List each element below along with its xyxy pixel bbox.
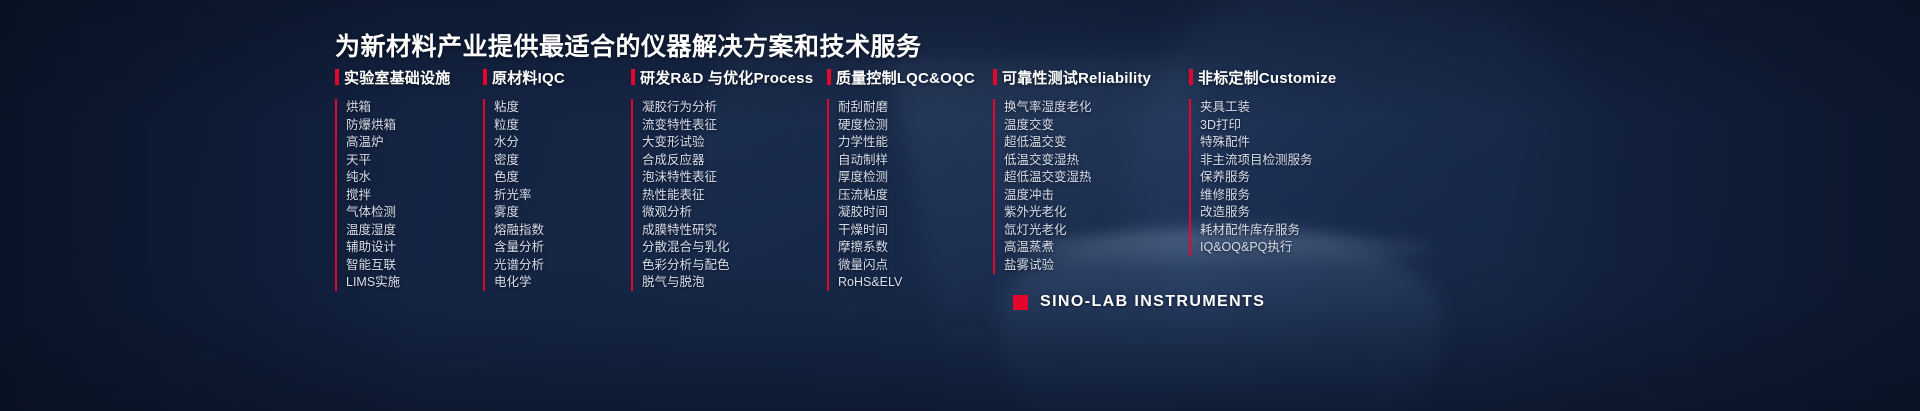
- category-item-list: 粘度 粒度 水分 密度 色度 折光率 雾度 熔融指数 含量分析 光谱分析 电化学: [483, 99, 631, 291]
- accent-bar-icon: [827, 69, 831, 85]
- list-item[interactable]: 密度: [494, 152, 631, 169]
- list-item[interactable]: 保养服务: [1200, 169, 1385, 186]
- list-item[interactable]: 微量闪点: [838, 257, 993, 274]
- list-item[interactable]: 粒度: [494, 117, 631, 134]
- category-header-label: 非标定制Customize: [1198, 67, 1336, 88]
- list-item[interactable]: 耐刮耐磨: [838, 99, 993, 116]
- service-category-columns: 实验室基础设施 烘箱 防爆烘箱 高温炉 天平 纯水 搅拌 气体检测 温度湿度 辅…: [335, 66, 1385, 292]
- brand-name: SINO-LAB INSTRUMENTS: [1040, 293, 1265, 311]
- list-item[interactable]: 微观分析: [642, 204, 827, 221]
- category-header-label: 质量控制LQC&OQC: [836, 67, 975, 88]
- list-item[interactable]: 泡沫特性表征: [642, 169, 827, 186]
- list-item[interactable]: 凝胶行为分析: [642, 99, 827, 116]
- list-item[interactable]: 气体检测: [346, 204, 483, 221]
- page-title: 为新材料产业提供最适合的仪器解决方案和技术服务: [335, 27, 922, 63]
- list-item[interactable]: 摩擦系数: [838, 239, 993, 256]
- category-column-quality-control: 质量控制LQC&OQC 耐刮耐磨 硬度检测 力学性能 自动制样 厚度检测 压流粘…: [827, 66, 993, 292]
- list-item[interactable]: 低温交变湿热: [1004, 152, 1189, 169]
- list-item[interactable]: 温度冲击: [1004, 187, 1189, 204]
- list-item[interactable]: 流变特性表征: [642, 117, 827, 134]
- list-item[interactable]: 凝胶时间: [838, 204, 993, 221]
- category-column-reliability: 可靠性测试Reliability 换气率湿度老化 温度交变 超低温交变 低温交变…: [993, 66, 1189, 292]
- list-item[interactable]: 粘度: [494, 99, 631, 116]
- list-item[interactable]: 3D打印: [1200, 117, 1385, 134]
- category-column-lab-infrastructure: 实验室基础设施 烘箱 防爆烘箱 高温炉 天平 纯水 搅拌 气体检测 温度湿度 辅…: [335, 66, 483, 292]
- list-item[interactable]: 力学性能: [838, 134, 993, 151]
- list-item[interactable]: 超低温交变: [1004, 134, 1189, 151]
- list-item[interactable]: 烘箱: [346, 99, 483, 116]
- list-item[interactable]: 色度: [494, 169, 631, 186]
- list-item[interactable]: 热性能表征: [642, 187, 827, 204]
- category-item-list: 凝胶行为分析 流变特性表征 大变形试验 合成反应器 泡沫特性表征 热性能表征 微…: [631, 99, 827, 291]
- list-item[interactable]: 超低温交变湿热: [1004, 169, 1189, 186]
- accent-bar-icon: [631, 69, 635, 85]
- accent-bar-icon: [1189, 69, 1193, 85]
- list-item[interactable]: 光谱分析: [494, 257, 631, 274]
- accent-bar-icon: [993, 69, 997, 85]
- category-header: 可靠性测试Reliability: [993, 66, 1189, 88]
- list-item[interactable]: 盐雾试验: [1004, 257, 1189, 274]
- list-item[interactable]: 水分: [494, 134, 631, 151]
- category-header: 原材料IQC: [483, 66, 631, 88]
- category-header: 非标定制Customize: [1189, 66, 1385, 88]
- accent-bar-icon: [335, 69, 339, 85]
- list-item[interactable]: 干燥时间: [838, 222, 993, 239]
- category-item-list: 换气率湿度老化 温度交变 超低温交变 低温交变湿热 超低温交变湿热 温度冲击 紫…: [993, 99, 1189, 274]
- list-item[interactable]: 厚度检测: [838, 169, 993, 186]
- category-item-list: 耐刮耐磨 硬度检测 力学性能 自动制样 厚度检测 压流粘度 凝胶时间 干燥时间 …: [827, 99, 993, 291]
- list-item[interactable]: 温度交变: [1004, 117, 1189, 134]
- list-item[interactable]: 非主流项目检测服务: [1200, 152, 1385, 169]
- list-item[interactable]: 防爆烘箱: [346, 117, 483, 134]
- category-item-list: 夹具工装 3D打印 特殊配件 非主流项目检测服务 保养服务 维修服务 改造服务 …: [1189, 99, 1385, 256]
- list-item[interactable]: 天平: [346, 152, 483, 169]
- list-item[interactable]: 氙灯光老化: [1004, 222, 1189, 239]
- list-item[interactable]: 高温蒸煮: [1004, 239, 1189, 256]
- category-column-rnd-process: 研发R&D 与优化Process 凝胶行为分析 流变特性表征 大变形试验 合成反…: [631, 66, 827, 292]
- list-item[interactable]: 合成反应器: [642, 152, 827, 169]
- list-item[interactable]: 硬度检测: [838, 117, 993, 134]
- list-item[interactable]: 色彩分析与配色: [642, 257, 827, 274]
- list-item[interactable]: 改造服务: [1200, 204, 1385, 221]
- list-item[interactable]: 换气率湿度老化: [1004, 99, 1189, 116]
- category-header-label: 研发R&D 与优化Process: [640, 67, 813, 88]
- list-item[interactable]: 脱气与脱泡: [642, 274, 827, 291]
- list-item[interactable]: 含量分析: [494, 239, 631, 256]
- category-header: 实验室基础设施: [335, 66, 483, 88]
- list-item[interactable]: 自动制样: [838, 152, 993, 169]
- list-item[interactable]: 智能互联: [346, 257, 483, 274]
- banner-content: 为新材料产业提供最适合的仪器解决方案和技术服务 实验室基础设施 烘箱 防爆烘箱 …: [0, 0, 1920, 411]
- list-item[interactable]: 分散混合与乳化: [642, 239, 827, 256]
- list-item[interactable]: 成膜特性研究: [642, 222, 827, 239]
- list-item[interactable]: IQ&OQ&PQ执行: [1200, 239, 1385, 256]
- category-header: 研发R&D 与优化Process: [631, 66, 827, 88]
- list-item[interactable]: 维修服务: [1200, 187, 1385, 204]
- square-mark-icon: [1013, 295, 1028, 310]
- list-item[interactable]: 特殊配件: [1200, 134, 1385, 151]
- accent-bar-icon: [483, 69, 487, 85]
- list-item[interactable]: 温度湿度: [346, 222, 483, 239]
- list-item[interactable]: 紫外光老化: [1004, 204, 1189, 221]
- list-item[interactable]: 电化学: [494, 274, 631, 291]
- category-header-label: 实验室基础设施: [344, 67, 450, 88]
- category-item-list: 烘箱 防爆烘箱 高温炉 天平 纯水 搅拌 气体检测 温度湿度 辅助设计 智能互联…: [335, 99, 483, 291]
- list-item[interactable]: 夹具工装: [1200, 99, 1385, 116]
- category-header-label: 可靠性测试Reliability: [1002, 67, 1151, 88]
- category-header-label: 原材料IQC: [492, 67, 565, 88]
- list-item[interactable]: 搅拌: [346, 187, 483, 204]
- list-item[interactable]: 高温炉: [346, 134, 483, 151]
- list-item[interactable]: 压流粘度: [838, 187, 993, 204]
- list-item[interactable]: 耗材配件库存服务: [1200, 222, 1385, 239]
- brand-logo[interactable]: SINO-LAB INSTRUMENTS: [1013, 293, 1265, 311]
- list-item[interactable]: 纯水: [346, 169, 483, 186]
- list-item[interactable]: 折光率: [494, 187, 631, 204]
- list-item[interactable]: 熔融指数: [494, 222, 631, 239]
- list-item[interactable]: 辅助设计: [346, 239, 483, 256]
- list-item[interactable]: 雾度: [494, 204, 631, 221]
- category-column-raw-material-iqc: 原材料IQC 粘度 粒度 水分 密度 色度 折光率 雾度 熔融指数 含量分析 光…: [483, 66, 631, 292]
- category-column-customize: 非标定制Customize 夹具工装 3D打印 特殊配件 非主流项目检测服务 保…: [1189, 66, 1385, 292]
- list-item[interactable]: RoHS&ELV: [838, 274, 993, 291]
- category-header: 质量控制LQC&OQC: [827, 66, 993, 88]
- list-item[interactable]: 大变形试验: [642, 134, 827, 151]
- list-item[interactable]: LIMS实施: [346, 274, 483, 291]
